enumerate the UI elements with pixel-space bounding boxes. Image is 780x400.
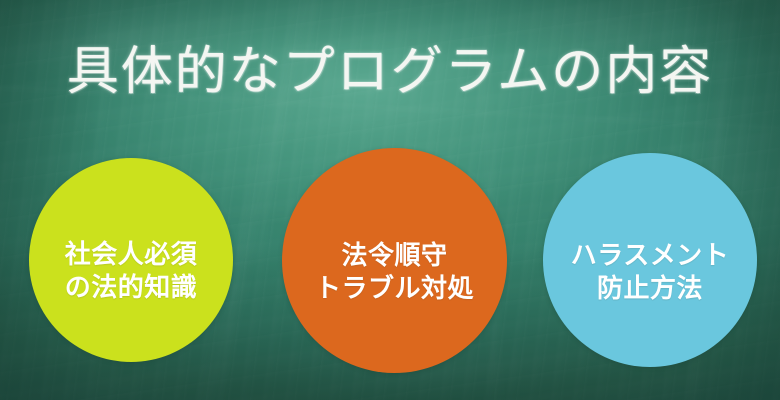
program-topic-group: 社会人必須 の法的知識 法令順守 トラブル対処 ハラスメント 防止方法 xyxy=(0,0,780,400)
slide-canvas: 具体的なプログラムの内容 社会人必須 の法的知識 法令順守 トラブル対処 ハラス… xyxy=(0,0,780,400)
topic-bubble-line: トラブル対処 xyxy=(315,273,474,306)
topic-bubble-compliance[interactable]: 法令順守 トラブル対処 xyxy=(282,148,507,373)
topic-bubble-line: 防止方法 xyxy=(597,273,703,306)
topic-bubble-line: ハラスメント xyxy=(571,240,729,273)
topic-bubble-legal-knowledge[interactable]: 社会人必須 の法的知識 xyxy=(29,158,233,362)
topic-bubble-line: 法令順守 xyxy=(341,240,447,273)
topic-bubble-harassment-prevention[interactable]: ハラスメント 防止方法 xyxy=(543,153,757,367)
topic-bubble-line: 社会人必須 xyxy=(65,239,198,272)
topic-bubble-line: の法的知識 xyxy=(65,272,198,305)
